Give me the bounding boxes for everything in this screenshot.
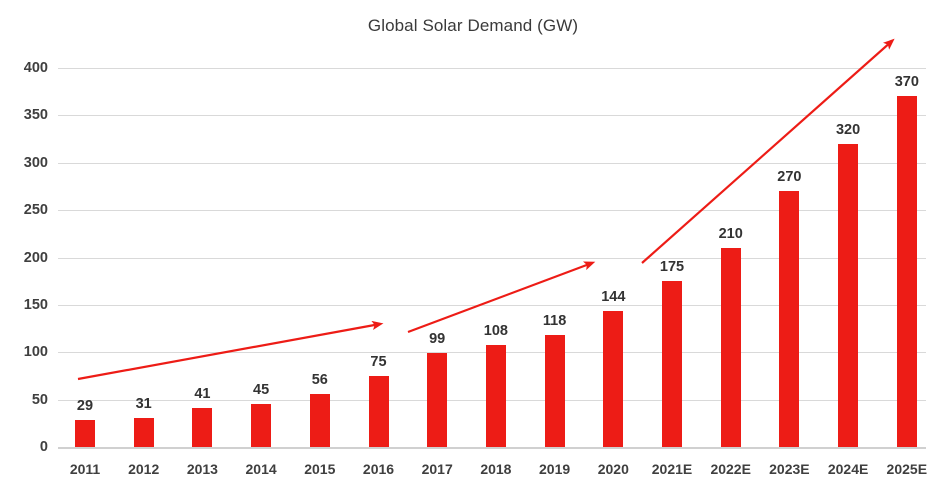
x-axis-tick-label: 2017	[405, 462, 469, 476]
y-axis-tick-label: 0	[0, 440, 48, 455]
bar-data-label: 210	[703, 227, 759, 242]
gridline	[58, 447, 926, 449]
x-axis-tick-label: 2015	[288, 462, 352, 476]
chart-container: Global Solar Demand (GW) 050100150200250…	[0, 0, 946, 494]
bar-data-label: 45	[233, 383, 289, 398]
bar-data-label: 99	[409, 332, 465, 347]
y-axis-tick-label: 100	[0, 345, 48, 360]
x-axis-tick-label: 2011	[53, 462, 117, 476]
bar[interactable]	[369, 376, 389, 447]
x-axis-tick-label: 2021E	[640, 462, 704, 476]
bar-data-label: 108	[468, 324, 524, 339]
bar-data-label: 320	[820, 123, 876, 138]
x-axis-tick-label: 2024E	[816, 462, 880, 476]
y-axis-tick-label: 300	[0, 156, 48, 171]
bar[interactable]	[603, 311, 623, 447]
x-axis-tick-label: 2020	[581, 462, 645, 476]
x-axis-tick-label: 2014	[229, 462, 293, 476]
y-axis-tick-label: 250	[0, 203, 48, 218]
bar-data-label: 29	[57, 399, 113, 414]
y-axis-tick-label: 50	[0, 393, 48, 408]
x-axis-tick-label: 2019	[523, 462, 587, 476]
bar-data-label: 370	[879, 75, 935, 90]
x-axis-tick-label: 2023E	[757, 462, 821, 476]
bar[interactable]	[662, 281, 682, 447]
gridline	[58, 68, 926, 69]
y-axis-tick-label: 200	[0, 251, 48, 266]
x-axis-tick-label: 2016	[347, 462, 411, 476]
bar[interactable]	[897, 96, 917, 447]
bar-data-label: 31	[116, 397, 172, 412]
y-axis-tick-label: 400	[0, 61, 48, 76]
x-axis-tick-label: 2025E	[875, 462, 939, 476]
bar-data-label: 75	[351, 355, 407, 370]
bar[interactable]	[545, 335, 565, 447]
x-axis-tick-label: 2012	[112, 462, 176, 476]
bar[interactable]	[838, 144, 858, 447]
bar-data-label: 144	[585, 290, 641, 305]
bar-data-label: 175	[644, 260, 700, 275]
bar[interactable]	[134, 418, 154, 447]
bar[interactable]	[427, 353, 447, 447]
bar[interactable]	[721, 248, 741, 447]
bar[interactable]	[779, 191, 799, 447]
bar[interactable]	[310, 394, 330, 447]
bar[interactable]	[251, 404, 271, 447]
bar-data-label: 41	[174, 387, 230, 402]
x-axis-tick-label: 2018	[464, 462, 528, 476]
gridline	[58, 115, 926, 116]
bar-data-label: 118	[527, 314, 583, 329]
bar-data-label: 270	[761, 170, 817, 185]
y-axis-tick-label: 150	[0, 298, 48, 313]
x-axis-tick-label: 2022E	[699, 462, 763, 476]
gridline	[58, 163, 926, 164]
bar-data-label: 56	[292, 373, 348, 388]
bar[interactable]	[486, 345, 506, 447]
y-axis-tick-label: 350	[0, 108, 48, 123]
bar[interactable]	[75, 420, 95, 447]
x-axis-tick-label: 2013	[170, 462, 234, 476]
bar[interactable]	[192, 408, 212, 447]
